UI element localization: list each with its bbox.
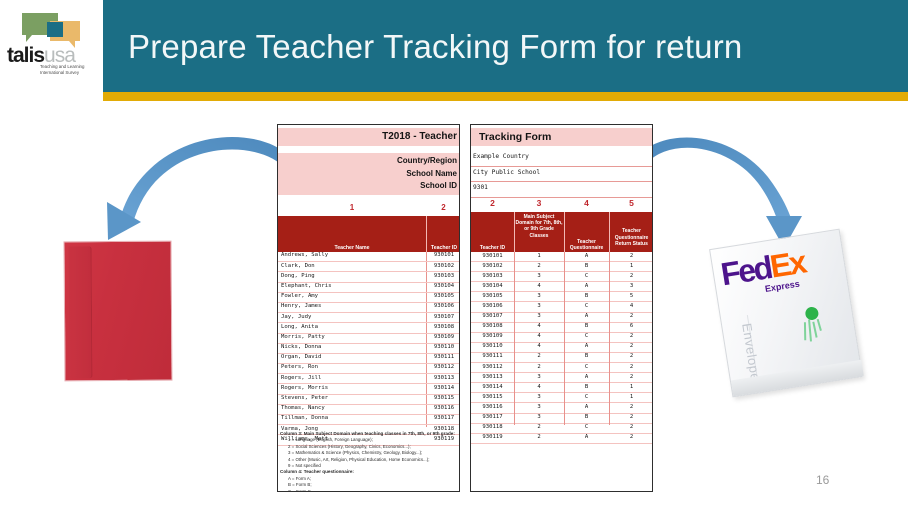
right-meta-school-name: City Public School — [473, 169, 540, 176]
subject-domain: 4 — [514, 384, 564, 390]
table-row: Jay, Judy930107 — [278, 313, 460, 323]
right-header-col-4: Teacher Questionnaire — [564, 239, 609, 251]
questionnaire-form: A — [564, 253, 609, 259]
left-meta-school-id: School ID — [278, 180, 457, 193]
questionnaire-form: C — [564, 364, 609, 370]
return-status: 5 — [609, 293, 653, 299]
teacher-id: 930109 — [427, 334, 460, 340]
subject-domain: 3 — [514, 313, 564, 319]
right-meta-country: Example Country — [473, 153, 529, 160]
questionnaire-form: B — [564, 384, 609, 390]
questionnaire-form: C — [564, 394, 609, 400]
subject-domain: 3 — [514, 293, 564, 299]
return-status: 2 — [609, 343, 653, 349]
right-header-col-5: Teacher Questionnaire Return Status — [609, 228, 653, 247]
table-row: 9301163A2 — [471, 403, 653, 413]
right-header-divider — [609, 212, 610, 252]
teacher-id: 930108 — [427, 324, 460, 330]
right-colnum-5: 5 — [609, 198, 653, 208]
subject-domain: 1 — [514, 253, 564, 259]
table-row: 9301084B6 — [471, 323, 653, 333]
return-status: 2 — [609, 333, 653, 339]
teacher-name: Stevens, Peter — [281, 395, 328, 401]
table-row: 9301112B2 — [471, 353, 653, 363]
speech-bubble-teal-icon — [47, 22, 63, 37]
teacher-id: 930104 — [471, 283, 514, 289]
return-status: 2 — [609, 273, 653, 279]
envelope-flap — [69, 246, 93, 378]
teacher-id: 930113 — [471, 374, 514, 380]
teacher-name: Jay, Judy — [281, 314, 311, 320]
table-row: 9301122C2 — [471, 363, 653, 373]
right-colnum-3: 3 — [514, 198, 564, 208]
questionnaire-form: C — [564, 333, 609, 339]
right-header-divider — [514, 212, 515, 252]
table-row: Dong, Ping930103 — [278, 272, 460, 282]
teacher-name: Peters, Ron — [281, 364, 318, 370]
teacher-id: 930112 — [471, 364, 514, 370]
return-status: 2 — [609, 364, 653, 370]
teacher-id: 930102 — [427, 263, 460, 269]
teacher-id: 930112 — [427, 364, 460, 370]
teacher-id: 930114 — [471, 384, 514, 390]
table-row: Nicks, Donna930110 — [278, 344, 460, 354]
accent-bar-gap — [0, 92, 103, 101]
note-item: C = Form C — [280, 489, 459, 492]
table-row: 9301073A2 — [471, 313, 653, 323]
teacher-id: 930117 — [427, 415, 460, 421]
left-form-notes: Column 3: Main Subject Domain when teach… — [280, 431, 459, 492]
table-row: Clark, Don930102 — [278, 262, 460, 272]
right-column-numbers: 2345 — [471, 197, 653, 213]
left-meta-country: Country/Region — [278, 155, 457, 168]
left-header-divider — [426, 216, 427, 252]
teacher-name: Dong, Ping — [281, 273, 315, 279]
red-envelope — [64, 241, 173, 382]
left-form-spacer-1 — [278, 146, 460, 153]
teacher-name: Andrews, Sally — [281, 252, 328, 258]
right-header-col-2: Teacher ID — [471, 245, 514, 251]
table-row: 9301094C2 — [471, 333, 653, 343]
teacher-name: Elephant, Chris — [281, 283, 332, 289]
left-form-title: T2018 - Teacher — [278, 128, 460, 146]
teacher-name: Henry, James — [281, 303, 321, 309]
return-status: 2 — [609, 374, 653, 380]
questionnaire-form: B — [564, 263, 609, 269]
subject-domain: 3 — [514, 273, 564, 279]
questionnaire-form: B — [564, 353, 609, 359]
right-form-meta: Example Country City Public School 9301 — [471, 151, 653, 195]
questionnaire-form: A — [564, 283, 609, 289]
teacher-id: 930110 — [471, 343, 514, 349]
return-status: 1 — [609, 263, 653, 269]
fedex-envelope-group: FedEx Express Envelope — [712, 234, 882, 394]
table-row: Stevens, Peter930115 — [278, 395, 460, 405]
fedex-logo-ex: Ex — [767, 244, 807, 285]
table-row: Organ, David930111 — [278, 354, 460, 364]
questionnaire-form: A — [564, 434, 609, 440]
subject-domain: 2 — [514, 364, 564, 370]
table-row: 9301044A3 — [471, 282, 653, 292]
green-streaks-icon — [800, 317, 825, 344]
left-colnum-2: 2 — [426, 203, 460, 212]
table-row: Peters, Ron930112 — [278, 364, 460, 374]
table-row: 9301133A2 — [471, 373, 653, 383]
subject-domain: 3 — [514, 303, 564, 309]
subject-domain: 2 — [514, 263, 564, 269]
left-colnum-1: 1 — [278, 203, 426, 212]
right-column-divider — [514, 252, 515, 425]
table-row: Tillman, Donna930117 — [278, 415, 460, 425]
subject-domain: 4 — [514, 343, 564, 349]
right-colnum-4: 4 — [564, 198, 609, 208]
teacher-id: 930111 — [471, 353, 514, 359]
questionnaire-form: C — [564, 273, 609, 279]
subject-domain: 2 — [514, 424, 564, 430]
teacher-listing-form[interactable]: T2018 - Teacher Country/Region School Na… — [277, 124, 460, 492]
return-status: 2 — [609, 353, 653, 359]
teacher-name: Organ, David — [281, 354, 321, 360]
questionnaire-form: B — [564, 323, 609, 329]
subject-domain: 3 — [514, 374, 564, 380]
subject-domain: 2 — [514, 434, 564, 440]
table-row: Henry, James930106 — [278, 303, 460, 313]
teacher-id: 930105 — [471, 293, 514, 299]
teacher-id: 930106 — [471, 303, 514, 309]
right-meta-row: 9301 — [471, 182, 653, 198]
teacher-id: 930115 — [471, 394, 514, 400]
left-header-teacher-name: Teacher Name — [278, 245, 426, 251]
teacher-id: 930119 — [471, 434, 514, 440]
teacher-name: Clark, Don — [281, 263, 315, 269]
table-row: 9301033C2 — [471, 272, 653, 282]
teacher-id: 930109 — [471, 333, 514, 339]
teacher-id: 930114 — [427, 385, 460, 391]
page-number: 16 — [816, 473, 829, 487]
teacher-id: 930101 — [471, 253, 514, 259]
table-row: Fowler, Amy930105 — [278, 293, 460, 303]
questionnaire-form: C — [564, 424, 609, 430]
table-row: Long, Anita930108 — [278, 323, 460, 333]
right-colnum-2: 2 — [471, 198, 514, 208]
return-status: 1 — [609, 384, 653, 390]
table-row: Thomas, Nancy930116 — [278, 405, 460, 415]
subject-domain: 3 — [514, 404, 564, 410]
teacher-id: 930105 — [427, 293, 460, 299]
table-row: 9301104A2 — [471, 343, 653, 353]
return-status: 6 — [609, 323, 653, 329]
teacher-name: Rogers, Jill — [281, 375, 321, 381]
questionnaire-form: A — [564, 343, 609, 349]
questionnaire-form: A — [564, 404, 609, 410]
right-header-col-3: Main Subject Domain for 7th, 8th, or 9th… — [514, 214, 564, 239]
left-meta-school-name: School Name — [278, 168, 457, 181]
right-meta-school-id: 9301 — [473, 184, 488, 191]
subject-domain: 3 — [514, 394, 564, 400]
right-header-divider — [564, 212, 565, 252]
page-title: Prepare Teacher Tracking Form for return — [128, 22, 848, 72]
teacher-id: 930118 — [471, 424, 514, 430]
table-row: 9301144B1 — [471, 383, 653, 393]
table-row: 9301022B1 — [471, 262, 653, 272]
subject-domain: 4 — [514, 323, 564, 329]
accent-bar — [0, 92, 908, 101]
teacher-id: 930108 — [471, 323, 514, 329]
return-status: 2 — [609, 313, 653, 319]
left-form-spacer-2 — [278, 195, 460, 202]
teacher-id: 930110 — [427, 344, 460, 350]
table-row: 9301182C2 — [471, 424, 653, 434]
logo-tagline-line2: International Survey — [40, 70, 102, 76]
right-meta-row: City Public School — [471, 167, 653, 183]
questionnaire-form: A — [564, 374, 609, 380]
slide: Prepare Teacher Tracking Form for return… — [0, 0, 908, 511]
logo-word-talis: talis — [7, 44, 44, 67]
table-row: 9301063C4 — [471, 302, 653, 312]
questionnaire-form: A — [564, 313, 609, 319]
right-column-divider — [564, 252, 565, 425]
table-row: 9301053B5 — [471, 292, 653, 302]
teacher-id: 930113 — [427, 375, 460, 381]
questionnaire-form: B — [564, 414, 609, 420]
left-table-body: Andrews, Sally930101Clark, Don930102Dong… — [278, 252, 460, 446]
left-table-header: Teacher Name Teacher ID — [278, 216, 460, 252]
teacher-id: 930103 — [471, 273, 514, 279]
teacher-name: Long, Anita — [281, 324, 318, 330]
return-status: 2 — [609, 404, 653, 410]
logo-tagline: Teaching and Learning International Surv… — [40, 64, 102, 76]
table-row: Elephant, Chris930104 — [278, 283, 460, 293]
teacher-id: 930111 — [427, 354, 460, 360]
subject-domain: 4 — [514, 283, 564, 289]
right-table-body: 9301011A29301022B19301033C29301044A39301… — [471, 252, 653, 444]
teacher-id: 930116 — [471, 404, 514, 410]
teacher-id: 930103 — [427, 273, 460, 279]
subject-domain: 2 — [514, 353, 564, 359]
teacher-name: Morris, Patty — [281, 334, 325, 340]
teacher-name: Tillman, Donna — [281, 415, 328, 421]
table-row: 9301192A2 — [471, 434, 653, 444]
return-status: 2 — [609, 424, 653, 430]
right-meta-row: Example Country — [471, 151, 653, 167]
subject-domain: 3 — [514, 414, 564, 420]
teacher-id: 930116 — [427, 405, 460, 411]
left-header-teacher-id: Teacher ID — [427, 245, 460, 251]
teacher-id: 930101 — [427, 252, 460, 258]
table-row: Morris, Patty930109 — [278, 334, 460, 344]
teacher-name: Fowler, Amy — [281, 293, 318, 299]
right-table-header: Teacher IDMain Subject Domain for 7th, 8… — [471, 212, 653, 252]
table-row: 9301173B2 — [471, 414, 653, 424]
table-row: 9301153C1 — [471, 393, 653, 403]
fedex-envelope: FedEx Express Envelope — [709, 229, 863, 398]
right-form-title: Tracking Form — [471, 128, 653, 146]
teacher-name: Thomas, Nancy — [281, 405, 325, 411]
teacher-id: 930117 — [471, 414, 514, 420]
teacher-id: 930102 — [471, 263, 514, 269]
table-row: Rogers, Jill930113 — [278, 374, 460, 384]
return-status: 1 — [609, 394, 653, 400]
teacher-id: 930106 — [427, 303, 460, 309]
talis-usa-logo: talisusa Teaching and Learning Internati… — [0, 0, 103, 92]
tracking-form[interactable]: Tracking Form Example Country City Publi… — [470, 124, 653, 492]
left-column-numbers: 1 2 — [278, 202, 460, 217]
teacher-id: 930107 — [427, 314, 460, 320]
return-status: 2 — [609, 434, 653, 440]
return-status: 2 — [609, 253, 653, 259]
teacher-name: Nicks, Donna — [281, 344, 321, 350]
teacher-id: 930115 — [427, 395, 460, 401]
return-status: 3 — [609, 283, 653, 289]
right-column-divider — [609, 252, 610, 425]
questionnaire-form: B — [564, 293, 609, 299]
teacher-id: 930104 — [427, 283, 460, 289]
speech-bubbles-icon — [22, 13, 84, 43]
teacher-id: 930107 — [471, 313, 514, 319]
return-status: 4 — [609, 303, 653, 309]
subject-domain: 4 — [514, 333, 564, 339]
table-row: Andrews, Sally930101 — [278, 252, 460, 262]
return-status: 2 — [609, 414, 653, 420]
logo-wordmark: talisusa — [7, 44, 99, 63]
questionnaire-form: C — [564, 303, 609, 309]
table-row: Rogers, Morris930114 — [278, 384, 460, 394]
table-row: 9301011A2 — [471, 252, 653, 262]
teacher-name: Rogers, Morris — [281, 385, 328, 391]
left-form-meta: Country/Region School Name School ID — [278, 153, 460, 195]
arrow-to-red-envelope — [95, 124, 300, 254]
